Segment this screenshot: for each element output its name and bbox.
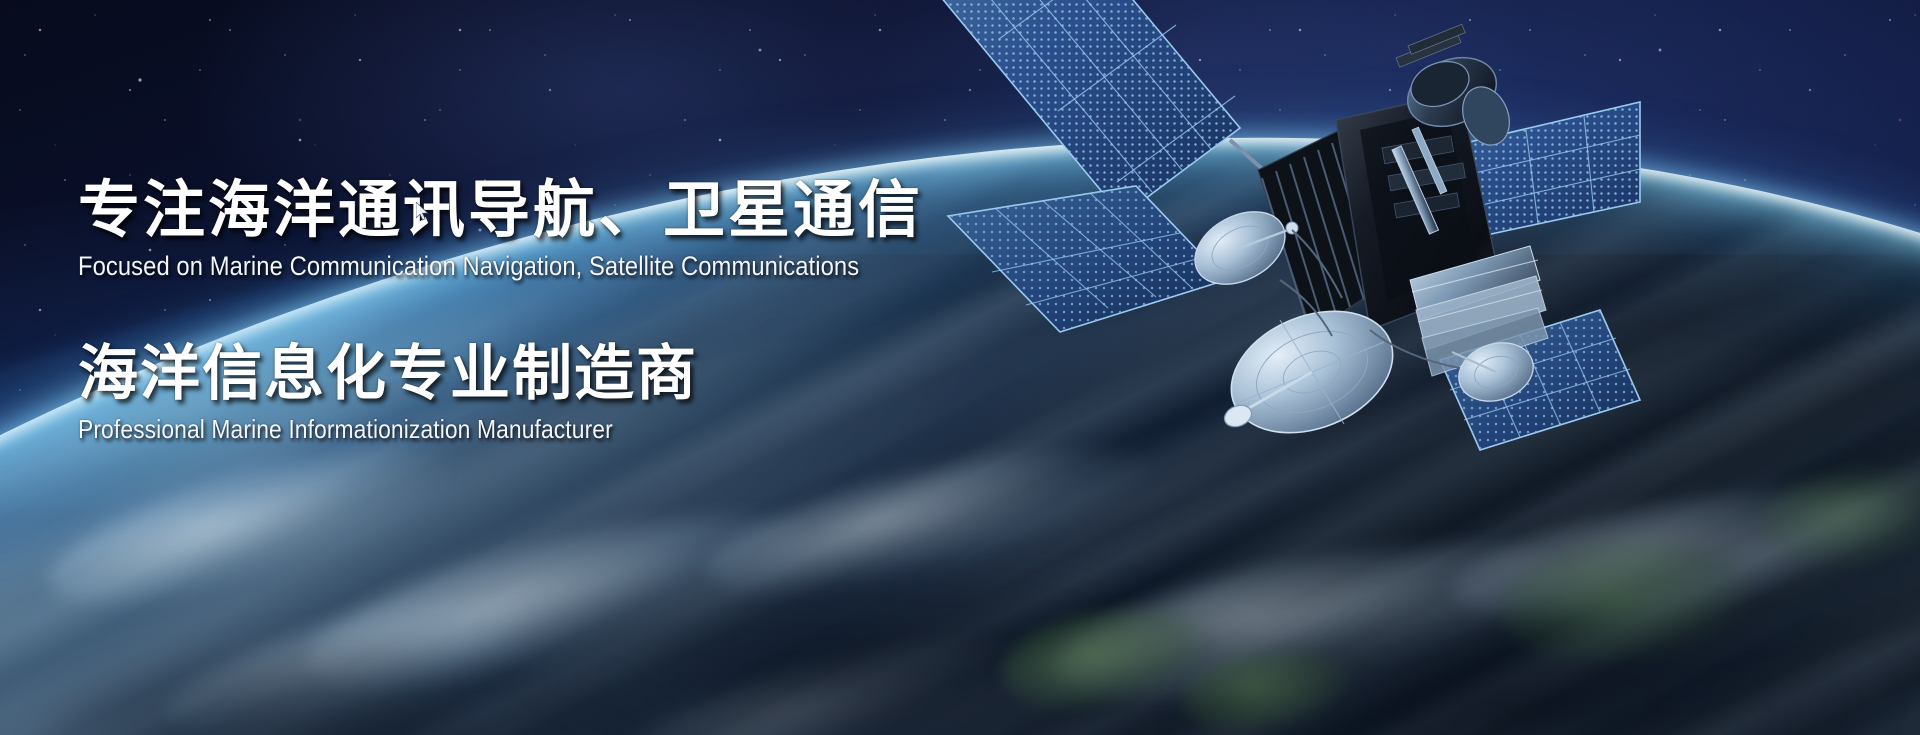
headline-block-2: 海洋信息化专业制造商 Professional Marine Informati… [78, 342, 1078, 446]
headline-primary: 专注海洋通讯导航、卫星通信 [78, 178, 1078, 244]
headline-block-1: 专注海洋通讯导航、卫星通信 Focused on Marine Communic… [78, 178, 1078, 282]
hero-copy: 专注海洋通讯导航、卫星通信 Focused on Marine Communic… [78, 178, 1078, 485]
headline-secondary: 海洋信息化专业制造商 [78, 342, 1078, 406]
subheadline-primary: Focused on Marine Communication Navigati… [78, 251, 958, 282]
hero-banner: 专注海洋通讯导航、卫星通信 Focused on Marine Communic… [0, 0, 1920, 735]
subheadline-secondary: Professional Marine Informationization M… [78, 414, 958, 445]
mouse-cursor-icon [416, 202, 430, 222]
